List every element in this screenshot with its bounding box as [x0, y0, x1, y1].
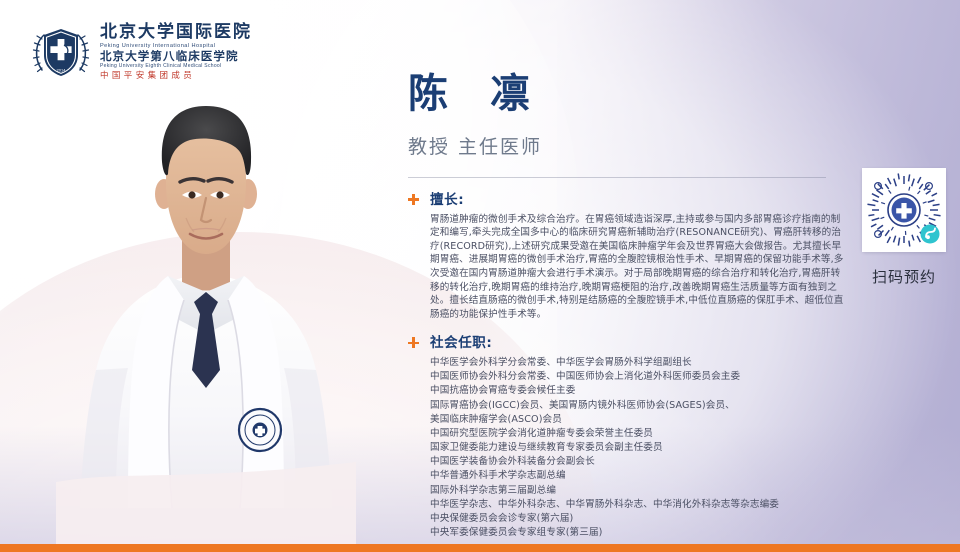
list-item: 中华医学杂志、中华外科杂志、中华胃肠外科杂志、中华消化外科杂志等杂志编委	[430, 498, 848, 512]
plus-icon	[408, 337, 419, 348]
list-item: 中国医师协会外科分会常委、中国医师协会上消化道外科医师委员会主委	[430, 370, 848, 384]
logo-chinese-school: 北京大学第八临床医学院	[100, 50, 252, 63]
list-item: 国家卫健委能力建设与继续教育专家委员会副主任委员	[430, 441, 848, 455]
appointments-list: 中华医学会外科学分会常委、中华医学会胃肠外科学组副组长中国医师协会外科分会常委、…	[430, 356, 848, 540]
section-heading: 擅长:	[430, 192, 848, 210]
qr-code-icon[interactable]	[862, 168, 946, 252]
list-item: 美国临床肿瘤学会(ASCO)会员	[430, 413, 848, 427]
list-item: 中国抗癌协会胃癌专委会候任主委	[430, 384, 848, 398]
wechat-miniprogram-icon	[921, 225, 940, 244]
divider	[408, 177, 826, 178]
qr-appointment-block[interactable]: 扫码预约	[862, 168, 946, 287]
doctor-info-panel: 陈 凛 教授 主任医师 擅长: 胃肠道肿瘤的微创手术及综合治疗。在胃癌领域造诣深…	[408, 70, 848, 540]
list-item: 中华医学会外科学分会常委、中华医学会胃肠外科学组副组长	[430, 356, 848, 370]
list-item: 中央保健委员会会诊专家(第六届)	[430, 512, 848, 526]
list-item: 中国研究型医院学会消化道肿瘤专委会荣誉主任委员	[430, 427, 848, 441]
doctor-job-title: 教授 主任医师	[408, 132, 848, 159]
svg-text:2014: 2014	[57, 67, 67, 72]
hospital-logo: 2014 北京大学国际医院 Peking University Internat…	[30, 22, 252, 81]
section-body: 胃肠道肿瘤的微创手术及综合治疗。在胃癌领域造诣深厚,主持或参与国内多部胃癌诊疗指…	[430, 213, 848, 322]
list-item: 国际胃癌协会(IGCC)会员、美国胃肠内镜外科医师协会(SAGES)会员、	[430, 399, 848, 413]
section-appointments: 社会任职: 中华医学会外科学分会常委、中华医学会胃肠外科学组副组长中国医师协会外…	[408, 335, 848, 540]
section-specialty: 擅长: 胃肠道肿瘤的微创手术及综合治疗。在胃癌领域造诣深厚,主持或参与国内多部胃…	[408, 192, 848, 321]
bottom-accent-strip	[0, 544, 960, 552]
poster-canvas: 2014 北京大学国际医院 Peking University Internat…	[0, 0, 960, 552]
logo-chinese-name: 北京大学国际医院	[100, 24, 252, 42]
page-title: 陈 凛	[408, 70, 848, 118]
list-item: 中华普通外科手术学杂志副总编	[430, 469, 848, 483]
section-heading: 社会任职:	[430, 335, 848, 353]
plus-icon	[408, 194, 419, 205]
list-item: 中央军委保健委员会专家组专家(第三届)	[430, 526, 848, 540]
doctor-portrait	[56, 78, 356, 552]
qr-label: 扫码预约	[862, 266, 946, 287]
list-item: 国际外科学杂志第三届副总编	[430, 484, 848, 498]
specialty-text: 胃肠道肿瘤的微创手术及综合治疗。在胃癌领域造诣深厚,主持或参与国内多部胃癌诊疗指…	[430, 213, 848, 322]
shield-wreath-cross-icon: 2014	[30, 23, 92, 81]
list-item: 中国医学装备协会外科装备分会副会长	[430, 455, 848, 469]
logo-english-school: Peking University Eighth Clinical Medica…	[100, 64, 252, 70]
